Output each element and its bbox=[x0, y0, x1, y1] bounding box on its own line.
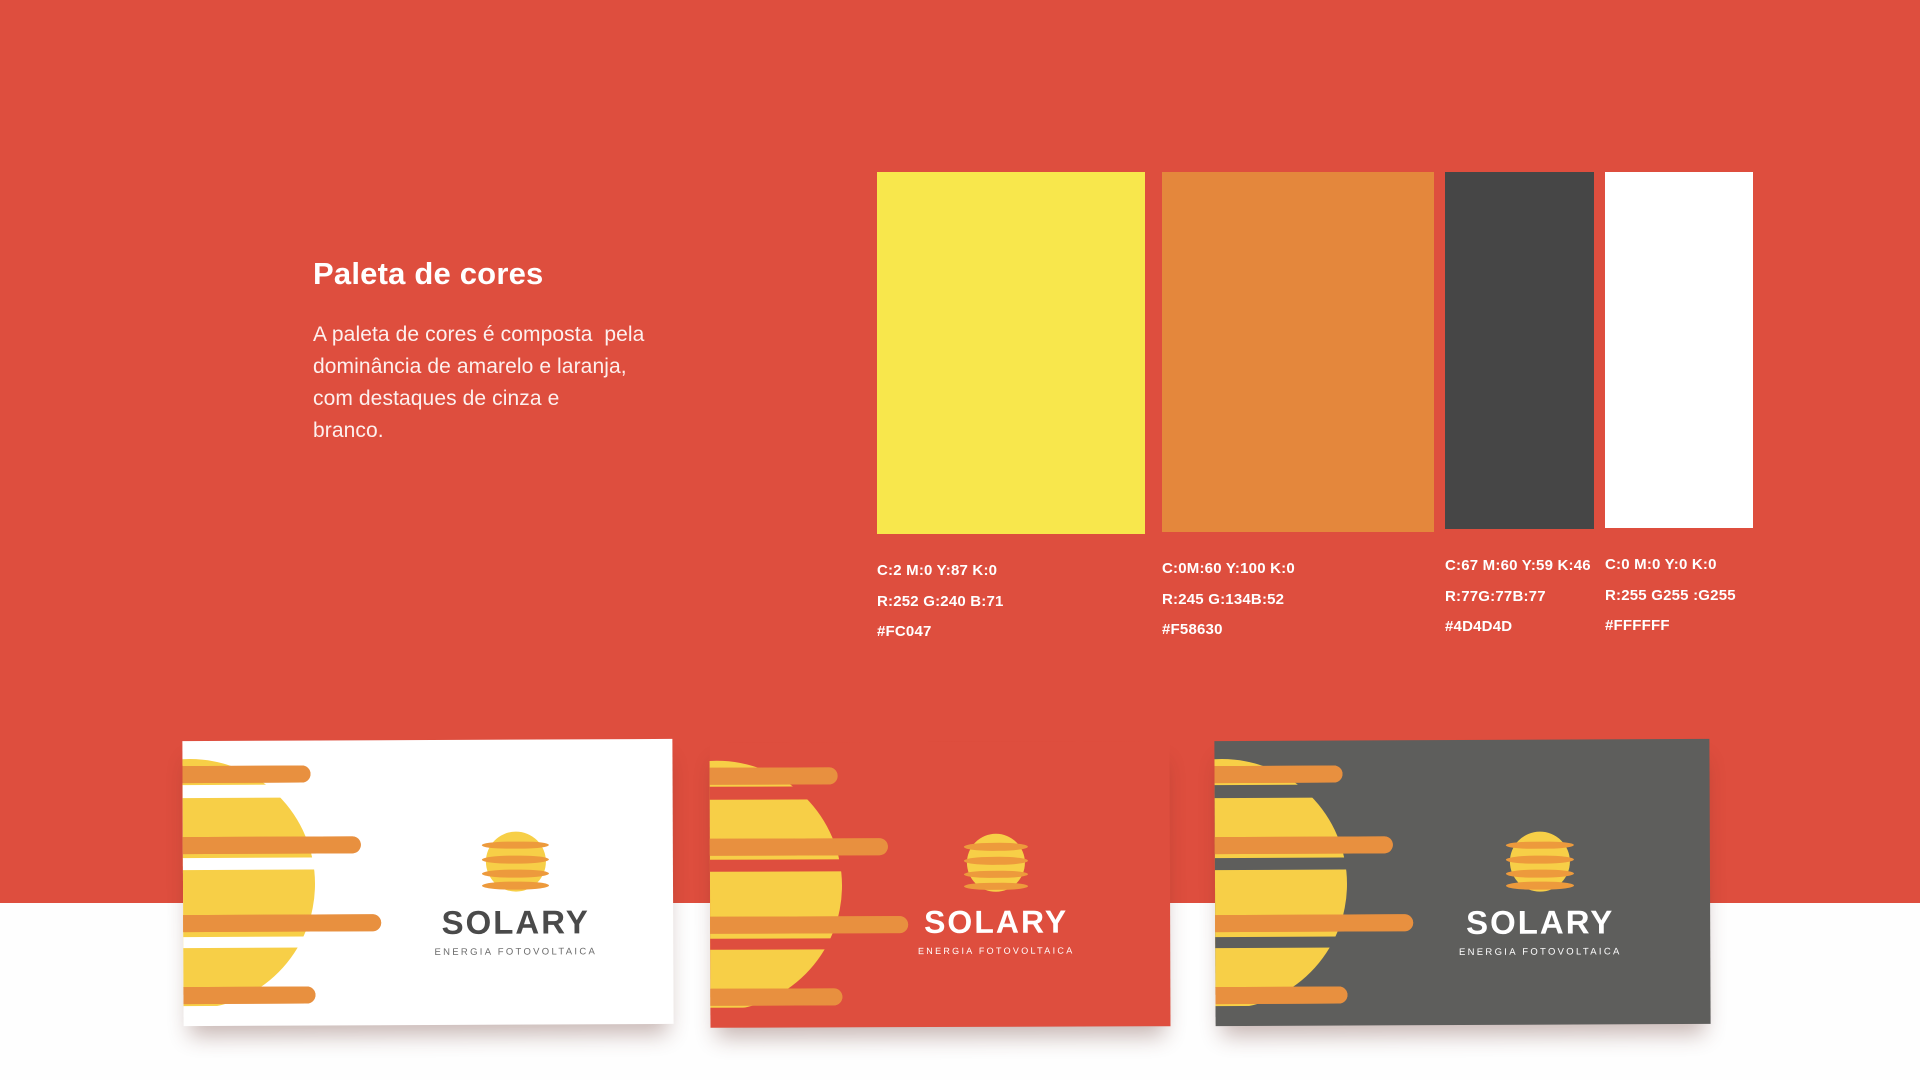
solary-sun-band-3 bbox=[963, 870, 1028, 878]
swatch-rgb-amarelo: R:252 G:240 B:71 bbox=[877, 587, 1145, 618]
card-surface-gray: SOLARYENERGIA FOTOVOLTAICA bbox=[1214, 739, 1710, 1026]
solary-sun-band-4 bbox=[1506, 882, 1573, 890]
swatch-hex-amarelo: #FC047 bbox=[877, 617, 1145, 648]
swatch-rgb-cinza: R:77G:77B:77 bbox=[1445, 582, 1594, 613]
sun-motif-bar-top-1 bbox=[710, 767, 838, 785]
color-swatch-laranja[interactable]: C:0M:60 Y:100 K:0R:245 G:134B:52#F58630 bbox=[1162, 172, 1434, 646]
sun-motif-gap-2 bbox=[182, 857, 333, 870]
swatch-hex-laranja: #F58630 bbox=[1162, 615, 1434, 646]
solary-sun-icon bbox=[1510, 832, 1570, 892]
solary-logo: SOLARYENERGIA FOTOVOLTAICA bbox=[910, 834, 1082, 957]
solary-sun-band-3 bbox=[1506, 869, 1573, 877]
palette-description-block: Paleta de cores A paleta de cores é comp… bbox=[313, 255, 783, 447]
solary-sun-icon bbox=[485, 831, 545, 891]
color-swatch-branco[interactable]: C:0 M:0 Y:0 K:0R:255 G255 :G255#FFFFFF bbox=[1605, 172, 1753, 642]
sun-motif-bar-top-4 bbox=[1214, 986, 1347, 1004]
sun-motif-gap-4 bbox=[710, 1007, 861, 1019]
sun-motif-gap-1 bbox=[182, 785, 332, 799]
solary-sun-band-2 bbox=[963, 857, 1028, 865]
sun-motif-gap-3 bbox=[710, 938, 861, 951]
swatch-cmyk-cinza: C:67 M:60 Y:59 K:46 bbox=[1445, 551, 1594, 582]
swatch-chip-branco bbox=[1605, 172, 1753, 528]
solary-wordmark: SOLARY bbox=[910, 906, 1082, 939]
solary-sun-band-1 bbox=[963, 843, 1028, 851]
business-card-white[interactable]: SOLARYENERGIA FOTOVOLTAICA bbox=[182, 739, 673, 1026]
solary-sun-band-3 bbox=[482, 869, 549, 877]
swatch-values-laranja: C:0M:60 Y:100 K:0R:245 G:134B:52#F58630 bbox=[1162, 554, 1434, 646]
solary-tagline: ENERGIA FOTOVOLTAICA bbox=[428, 947, 603, 957]
swatch-hex-branco: #FFFFFF bbox=[1605, 611, 1753, 642]
sun-motif-bar-top-4 bbox=[710, 988, 843, 1006]
color-swatch-cinza[interactable]: C:67 M:60 Y:59 K:46R:77G:77B:77#4D4D4D bbox=[1445, 172, 1594, 643]
solary-tagline: ENERGIA FOTOVOLTAICA bbox=[910, 947, 1082, 957]
solary-logo: SOLARYENERGIA FOTOVOLTAICA bbox=[1450, 831, 1631, 957]
sun-motif-gap-1 bbox=[710, 786, 860, 800]
sun-motif-gap-4 bbox=[1214, 1005, 1365, 1018]
color-swatch-amarelo[interactable]: C:2 M:0 Y:87 K:0R:252 G:240 B:71#FC047 bbox=[877, 172, 1145, 648]
sun-motif-bar-top-2 bbox=[710, 838, 888, 856]
sun-motif-bar-top-1 bbox=[1214, 765, 1342, 783]
swatch-cmyk-branco: C:0 M:0 Y:0 K:0 bbox=[1605, 550, 1753, 581]
solary-wordmark: SOLARY bbox=[1450, 905, 1630, 939]
solary-tagline: ENERGIA FOTOVOLTAICA bbox=[1450, 947, 1630, 957]
sun-motif-bar-top-1 bbox=[182, 765, 310, 783]
sun-motif-bar-top-2 bbox=[1214, 836, 1392, 854]
sun-motif-gap-3 bbox=[182, 936, 333, 949]
sun-motif-bar-top-3 bbox=[1214, 915, 1413, 933]
swatch-values-branco: C:0 M:0 Y:0 K:0R:255 G255 :G255#FFFFFF bbox=[1605, 550, 1753, 642]
page-title: Paleta de cores bbox=[313, 255, 783, 292]
sun-motif-gap-4 bbox=[182, 1005, 333, 1018]
sun-motif-bar-top-3 bbox=[182, 915, 381, 933]
swatch-rgb-branco: R:255 G255 :G255 bbox=[1605, 581, 1753, 612]
sun-motif-gap-3 bbox=[1214, 936, 1365, 949]
solary-sun-band-2 bbox=[482, 855, 549, 863]
swatch-chip-amarelo bbox=[877, 172, 1145, 534]
card-surface-white: SOLARYENERGIA FOTOVOLTAICA bbox=[182, 739, 673, 1026]
card-surface-red: SOLARYENERGIA FOTOVOLTAICA bbox=[710, 741, 1171, 1028]
swatch-cmyk-laranja: C:0M:60 Y:100 K:0 bbox=[1162, 554, 1434, 585]
swatch-rgb-laranja: R:245 G:134B:52 bbox=[1162, 585, 1434, 616]
palette-description-text: A paleta de cores é composta pela dominâ… bbox=[313, 319, 783, 447]
solary-sun-band-4 bbox=[482, 882, 549, 890]
solary-logo: SOLARYENERGIA FOTOVOLTAICA bbox=[428, 831, 604, 957]
solary-sun-band-2 bbox=[1506, 856, 1573, 864]
solary-wordmark: SOLARY bbox=[428, 905, 603, 939]
swatch-values-amarelo: C:2 M:0 Y:87 K:0R:252 G:240 B:71#FC047 bbox=[877, 556, 1145, 648]
business-card-red[interactable]: SOLARYENERGIA FOTOVOLTAICA bbox=[710, 741, 1171, 1028]
swatch-cmyk-amarelo: C:2 M:0 Y:87 K:0 bbox=[877, 556, 1145, 587]
sun-motif-gap-1 bbox=[1214, 785, 1364, 799]
business-card-gray[interactable]: SOLARYENERGIA FOTOVOLTAICA bbox=[1214, 739, 1710, 1026]
sun-motif-bar-top-3 bbox=[710, 917, 909, 935]
swatch-hex-cinza: #4D4D4D bbox=[1445, 612, 1594, 643]
sun-motif-bar-top-2 bbox=[182, 836, 360, 854]
swatch-values-cinza: C:67 M:60 Y:59 K:46R:77G:77B:77#4D4D4D bbox=[1445, 551, 1594, 643]
swatch-chip-cinza bbox=[1445, 172, 1594, 529]
swatch-chip-laranja bbox=[1162, 172, 1434, 532]
sun-motif-gap-2 bbox=[1214, 857, 1365, 870]
solary-sun-icon bbox=[967, 834, 1025, 892]
sun-motif-gap-2 bbox=[710, 859, 860, 872]
slide-canvas: Paleta de cores A paleta de cores é comp… bbox=[0, 0, 1920, 1080]
solary-sun-band-4 bbox=[964, 882, 1029, 890]
sun-motif-bar-top-4 bbox=[182, 986, 315, 1004]
